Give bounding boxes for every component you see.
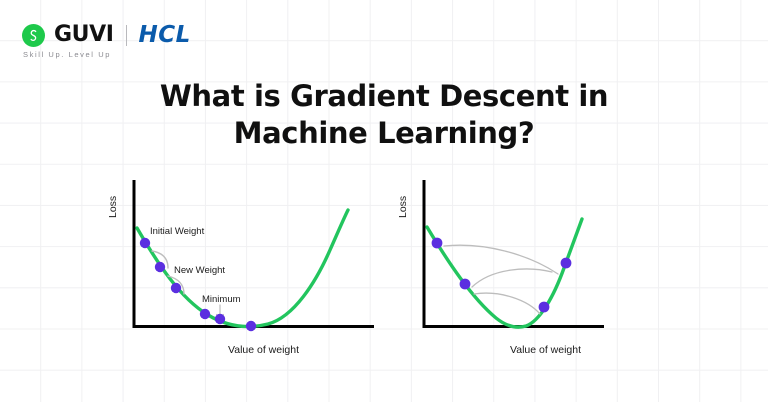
- descent-point-4[interactable]: [200, 309, 210, 319]
- left-chart-panel: Initial Weight New Weight Minimum Loss V…: [98, 172, 388, 372]
- descent-point-1[interactable]: [140, 238, 150, 248]
- initial-weight-label: Initial Weight: [150, 226, 205, 237]
- left-chart-svg: Initial Weight New Weight Minimum Loss V…: [98, 172, 388, 372]
- right-chart-svg: Loss Value of weight: [388, 172, 678, 372]
- x-axis-title: Value of weight: [510, 344, 581, 356]
- brand-tagline: Skill Up. Level Up: [23, 50, 191, 59]
- loss-curve: [427, 219, 582, 327]
- new-weight-label: New Weight: [174, 265, 225, 276]
- figures-row: Initial Weight New Weight Minimum Loss V…: [0, 172, 768, 372]
- brand-bar: GUVI HCL Skill Up. Level Up: [22, 22, 191, 59]
- y-axis-title: Loss: [107, 196, 119, 218]
- descent-point-2[interactable]: [155, 262, 165, 272]
- descent-point-5[interactable]: [215, 314, 225, 324]
- brand-logo-row: GUVI HCL: [22, 22, 191, 48]
- guvi-wordmark: GUVI: [54, 24, 114, 46]
- right-chart-panel: Loss Value of weight: [388, 172, 678, 372]
- hcl-wordmark: HCL: [139, 24, 191, 47]
- x-axis-title: Value of weight: [228, 344, 299, 356]
- descent-point-3[interactable]: [171, 283, 181, 293]
- guvi-logo-mark-icon: [22, 24, 45, 47]
- descent-point-6-minimum[interactable]: [246, 321, 256, 331]
- minimum-label: Minimum: [202, 294, 241, 305]
- descent-point-3[interactable]: [539, 302, 550, 313]
- y-axis-title: Loss: [397, 196, 409, 218]
- oscillation-arrow-3: [474, 293, 540, 314]
- page-title-line-1: What is Gradient Descent in: [0, 78, 768, 115]
- descent-point-4[interactable]: [561, 258, 572, 269]
- page-title-line-2: Machine Learning?: [0, 115, 768, 152]
- descent-point-2[interactable]: [460, 279, 471, 290]
- page-title: What is Gradient Descent in Machine Lear…: [0, 78, 768, 152]
- slide-canvas: GUVI HCL Skill Up. Level Up What is Grad…: [0, 0, 768, 402]
- oscillation-arrow-2: [472, 269, 552, 287]
- descent-point-1[interactable]: [432, 238, 443, 249]
- brand-divider: [126, 25, 127, 46]
